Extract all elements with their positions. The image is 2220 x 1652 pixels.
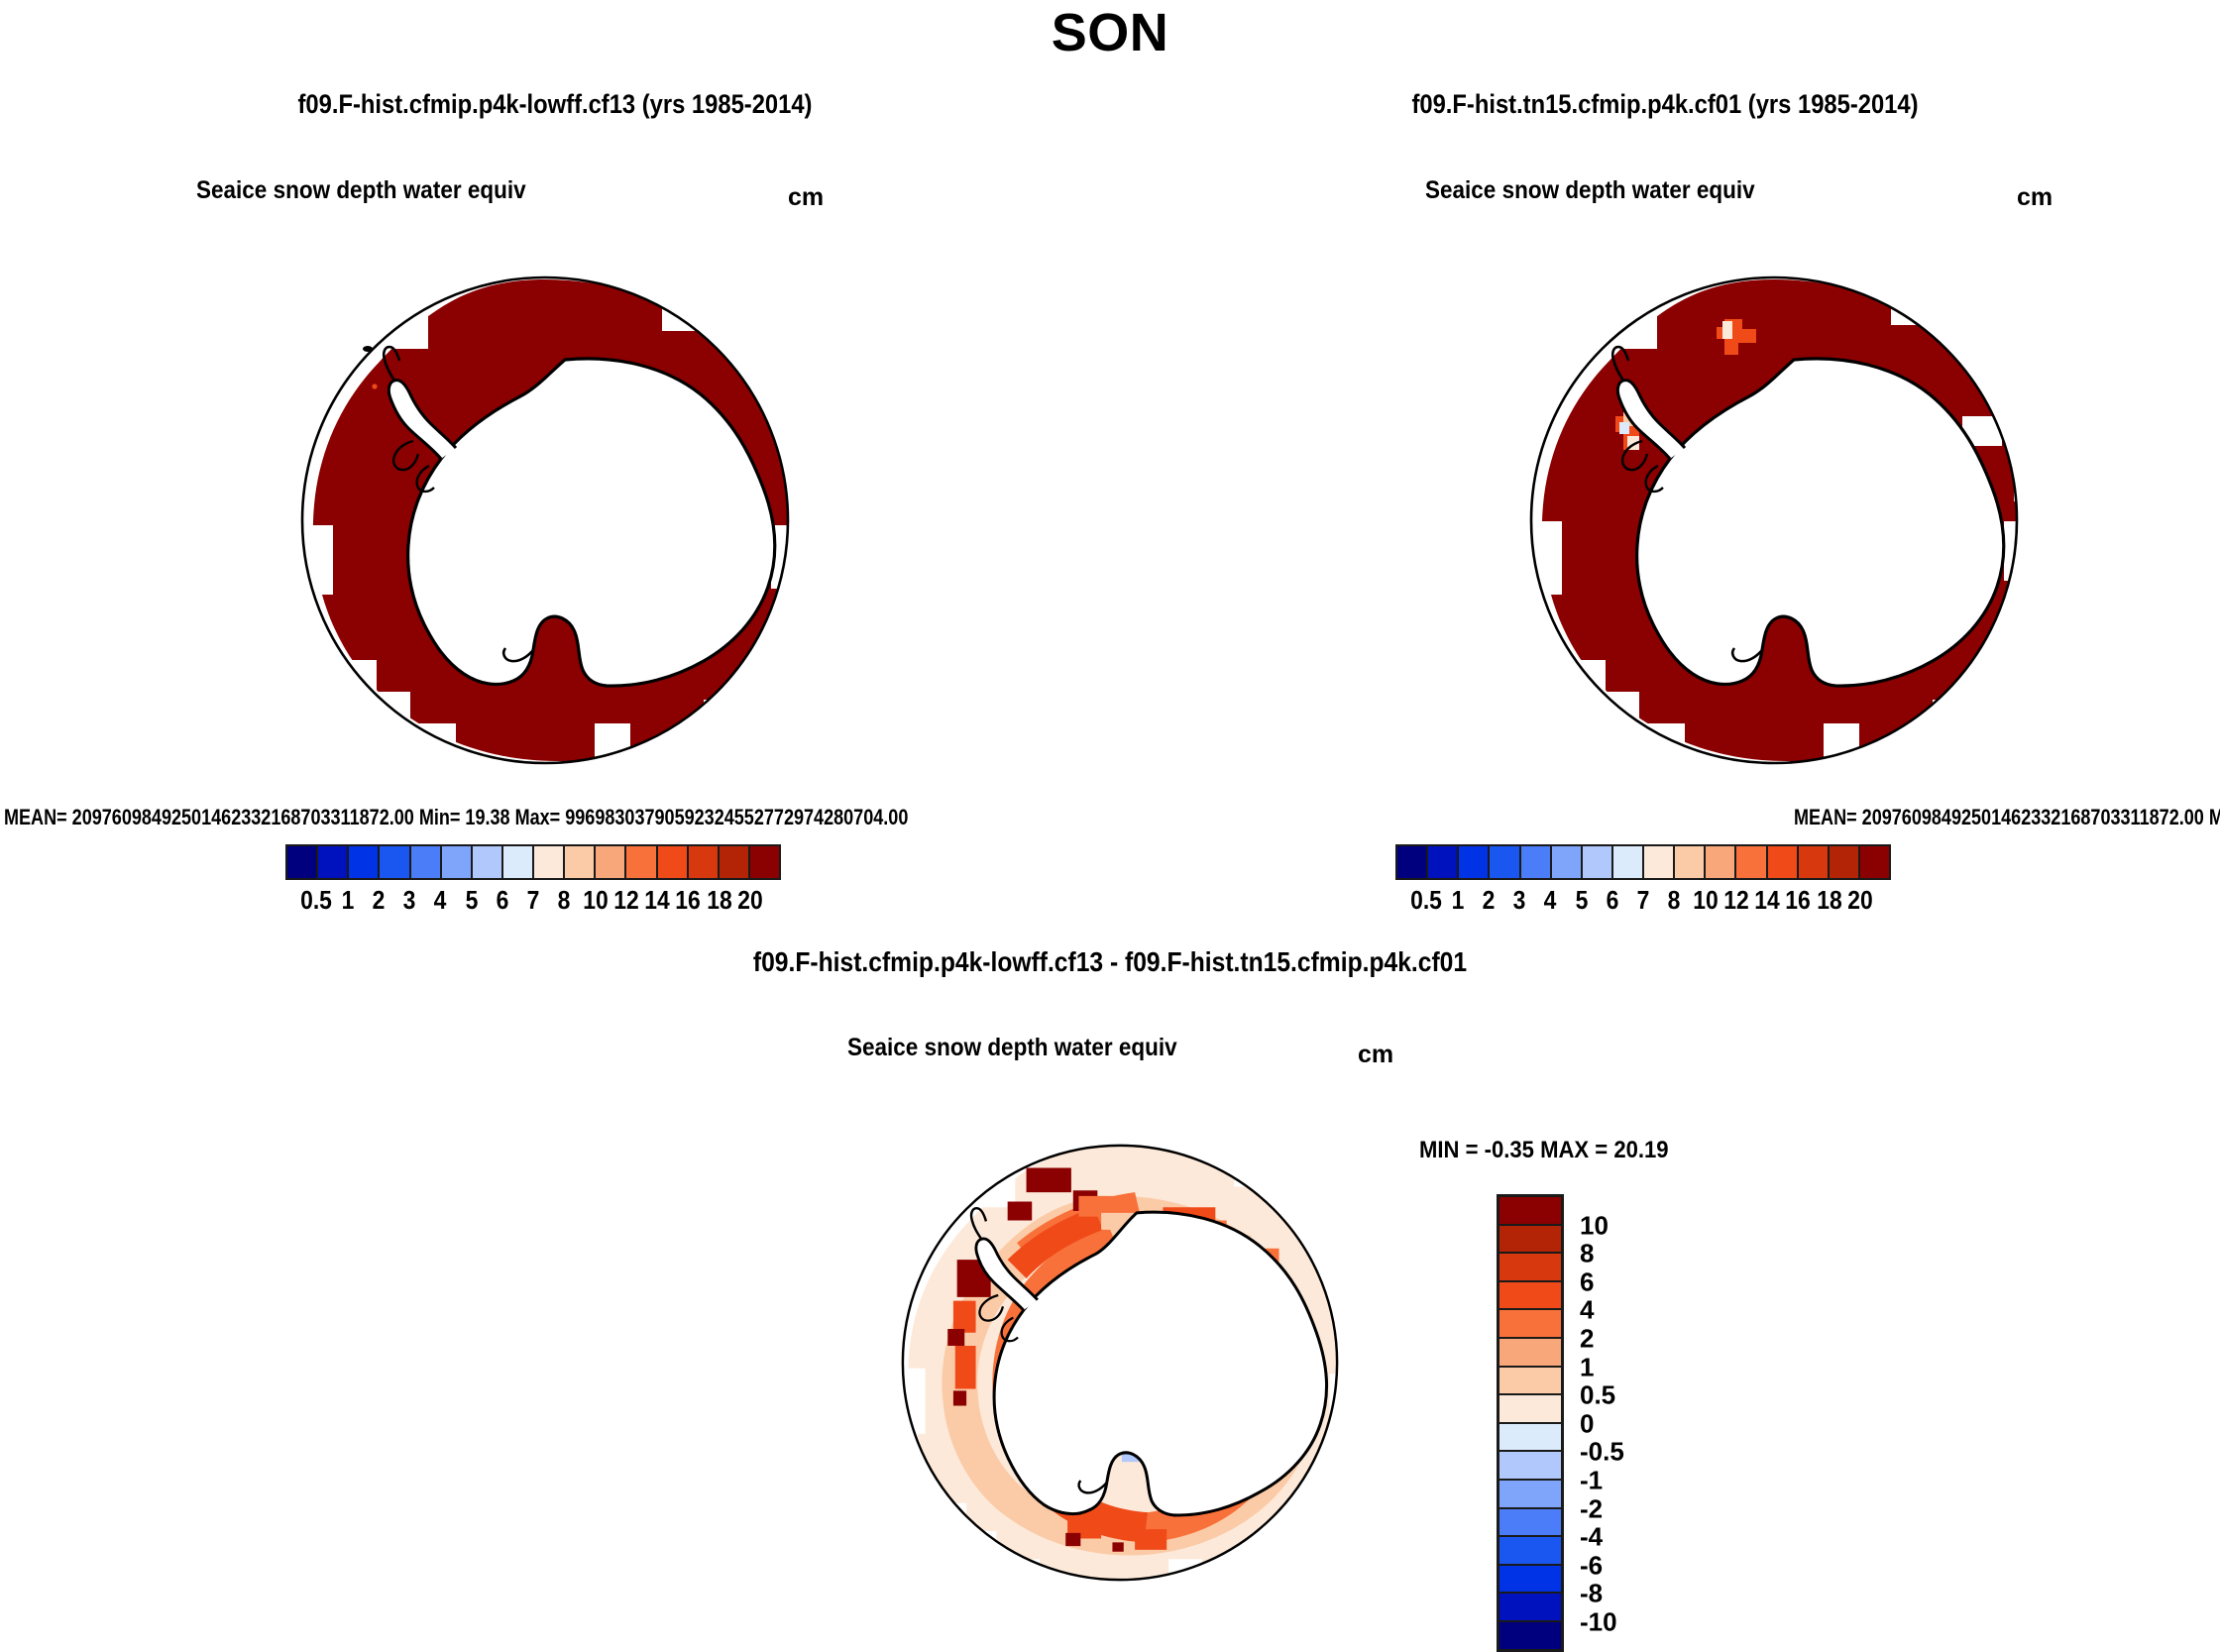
colorbar-cell xyxy=(534,846,565,878)
colorbar-tick-label: 0.5 xyxy=(1410,885,1442,916)
colorbar-cell xyxy=(1499,1481,1561,1509)
colorbar-tick-label: 4 xyxy=(1544,885,1557,916)
colorbar-tick-label: 10 xyxy=(1693,885,1718,916)
colorbar-tick-label: 1 xyxy=(1451,885,1464,916)
colorbar-cell xyxy=(318,846,349,878)
colorbar-tick-label: 2 xyxy=(1482,885,1495,916)
colorbar-cell xyxy=(1706,846,1736,878)
colorbar-left-ticks: 0.512345678101214161820 xyxy=(285,885,781,919)
colorbar-tick-label: -10 xyxy=(1580,1607,1617,1638)
panel-right-subtitle: Seaice snow depth water equiv xyxy=(1425,176,1755,205)
panel-right: f09.F-hist.tn15.cfmip.p4k.cf01 (yrs 1985… xyxy=(1110,89,2220,941)
colorbar-tick-label: -1 xyxy=(1580,1466,1603,1496)
colorbar-cell xyxy=(442,846,473,878)
colorbar-cell xyxy=(1499,1566,1561,1595)
colorbar-cell xyxy=(380,846,410,878)
panel-diff-title: f09.F-hist.cfmip.p4k-lowff.cf13 - f09.F-… xyxy=(133,946,2086,978)
panel-left-units: cm xyxy=(788,183,824,212)
colorbar-tick-label: 12 xyxy=(1723,885,1748,916)
colorbar-tick-label: 18 xyxy=(707,885,731,916)
colorbar-right: 0.512345678101214161820 xyxy=(1395,844,1891,919)
colorbar-cell xyxy=(1499,1226,1561,1255)
colorbar-cell xyxy=(1552,846,1583,878)
colorbar-tick-label: 8 xyxy=(558,885,571,916)
colorbar-tick-label: 1 xyxy=(341,885,354,916)
colorbar-cell xyxy=(626,846,657,878)
colorbar-cell xyxy=(1521,846,1552,878)
colorbar-cell xyxy=(1499,1622,1561,1649)
colorbar-cell xyxy=(1499,1254,1561,1282)
colorbar-tick-label: 6 xyxy=(1580,1267,1594,1297)
map-diff xyxy=(857,1110,1383,1615)
colorbar-cell xyxy=(411,846,442,878)
colorbar-tick-label: 10 xyxy=(1580,1210,1609,1241)
colorbar-tick-label: 3 xyxy=(403,885,416,916)
colorbar-tick-label: -6 xyxy=(1580,1550,1603,1581)
colorbar-tick-label: 2 xyxy=(372,885,385,916)
colorbar-cell xyxy=(658,846,689,878)
panel-right-units: cm xyxy=(2017,183,2053,212)
panel-left-stats: MEAN= 20976098492501462332168703311872.0… xyxy=(4,805,908,830)
colorbar-cell xyxy=(1499,1395,1561,1424)
colorbar-diff-cells xyxy=(1497,1194,1564,1652)
panel-left-subtitle: Seaice snow depth water equiv xyxy=(196,176,526,205)
colorbar-cell xyxy=(1613,846,1644,878)
map-right xyxy=(1497,228,2052,813)
colorbar-cell xyxy=(1499,1537,1561,1566)
colorbar-tick-label: 14 xyxy=(1754,885,1779,916)
colorbar-cell xyxy=(1736,846,1767,878)
colorbar-tick-label: -8 xyxy=(1580,1579,1603,1609)
colorbar-right-cells xyxy=(1395,844,1891,880)
anomaly-speck-left xyxy=(372,384,377,388)
colorbar-tick-label: -0.5 xyxy=(1580,1437,1624,1468)
colorbar-cell xyxy=(1499,1509,1561,1538)
colorbar-tick-label: 6 xyxy=(1606,885,1618,916)
colorbar-cell xyxy=(1644,846,1675,878)
colorbar-tick-label: -4 xyxy=(1580,1522,1603,1553)
colorbar-cell xyxy=(1499,1368,1561,1396)
panel-right-stats: MEAN= 20976098492501462332168703311872.0… xyxy=(1794,805,2220,830)
colorbar-tick-label: 3 xyxy=(1513,885,1526,916)
colorbar-cell xyxy=(1397,846,1428,878)
panel-diff: f09.F-hist.cfmip.p4k-lowff.cf13 - f09.F-… xyxy=(0,946,2220,1642)
colorbar-tick-label: 1 xyxy=(1580,1352,1594,1382)
colorbar-tick-label: 8 xyxy=(1668,885,1681,916)
colorbar-diff-ticks: 10864210.50-0.5-1-2-4-6-8-10 xyxy=(1580,1194,1719,1630)
colorbar-tick-label: 20 xyxy=(1847,885,1872,916)
colorbar-tick-label: 16 xyxy=(1786,885,1811,916)
colorbar-cell xyxy=(596,846,626,878)
colorbar-tick-label: 18 xyxy=(1817,885,1841,916)
colorbar-tick-label: 5 xyxy=(465,885,478,916)
colorbar-tick-label: 6 xyxy=(496,885,508,916)
colorbar-cell xyxy=(689,846,720,878)
colorbar-cell xyxy=(720,846,750,878)
colorbar-cell xyxy=(1428,846,1459,878)
colorbar-tick-label: 4 xyxy=(1580,1295,1594,1326)
colorbar-tick-label: 0 xyxy=(1580,1408,1594,1439)
map-left xyxy=(268,228,823,813)
colorbar-cell xyxy=(1499,1594,1561,1622)
colorbar-tick-label: 8 xyxy=(1580,1239,1594,1269)
colorbar-right-ticks: 0.512345678101214161820 xyxy=(1395,885,1891,919)
colorbar-cell xyxy=(1675,846,1706,878)
colorbar-diff xyxy=(1497,1194,1564,1652)
colorbar-tick-label: 7 xyxy=(1637,885,1650,916)
colorbar-tick-label: 0.5 xyxy=(300,885,332,916)
colorbar-cell xyxy=(1499,1282,1561,1311)
colorbar-cell xyxy=(1583,846,1613,878)
panel-diff-subtitle: Seaice snow depth water equiv xyxy=(847,1034,1177,1062)
colorbar-cell xyxy=(1768,846,1799,878)
colorbar-tick-label: 0.5 xyxy=(1580,1380,1615,1411)
colorbar-tick-label: 7 xyxy=(527,885,540,916)
colorbar-left: 0.512345678101214161820 xyxy=(285,844,781,919)
colorbar-cell xyxy=(1799,846,1830,878)
colorbar-cell xyxy=(750,846,779,878)
panel-right-title: f09.F-hist.tn15.cfmip.p4k.cf01 (yrs 1985… xyxy=(1176,89,2154,120)
colorbar-cell xyxy=(503,846,534,878)
colorbar-tick-label: 5 xyxy=(1575,885,1588,916)
colorbar-cell xyxy=(1860,846,1889,878)
colorbar-cell xyxy=(1830,846,1860,878)
colorbar-cell xyxy=(565,846,596,878)
panel-left-title: f09.F-hist.cfmip.p4k-lowff.cf13 (yrs 198… xyxy=(66,89,1044,120)
colorbar-tick-label: 14 xyxy=(644,885,669,916)
colorbar-cell xyxy=(1499,1424,1561,1453)
colorbar-tick-label: 16 xyxy=(676,885,701,916)
colorbar-tick-label: 10 xyxy=(583,885,608,916)
colorbar-left-cells xyxy=(285,844,781,880)
colorbar-cell xyxy=(1499,1452,1561,1481)
colorbar-cell xyxy=(473,846,503,878)
colorbar-tick-label: 12 xyxy=(613,885,638,916)
colorbar-tick-label: 2 xyxy=(1580,1324,1594,1355)
colorbar-cell xyxy=(349,846,380,878)
colorbar-tick-label: -2 xyxy=(1580,1493,1603,1524)
colorbar-tick-label: 4 xyxy=(434,885,447,916)
colorbar-cell xyxy=(1459,846,1490,878)
colorbar-cell xyxy=(1499,1310,1561,1339)
colorbar-cell xyxy=(1490,846,1520,878)
colorbar-cell xyxy=(287,846,318,878)
panel-diff-units: cm xyxy=(1358,1041,1393,1069)
colorbar-tick-label: 20 xyxy=(737,885,762,916)
colorbar-cell xyxy=(1499,1197,1561,1226)
panel-diff-minmax: MIN = -0.35 MAX = 20.19 xyxy=(1419,1137,1669,1164)
page-title: SON xyxy=(0,2,2220,63)
colorbar-cell xyxy=(1499,1339,1561,1368)
panel-left: f09.F-hist.cfmip.p4k-lowff.cf13 (yrs 198… xyxy=(0,89,1110,941)
